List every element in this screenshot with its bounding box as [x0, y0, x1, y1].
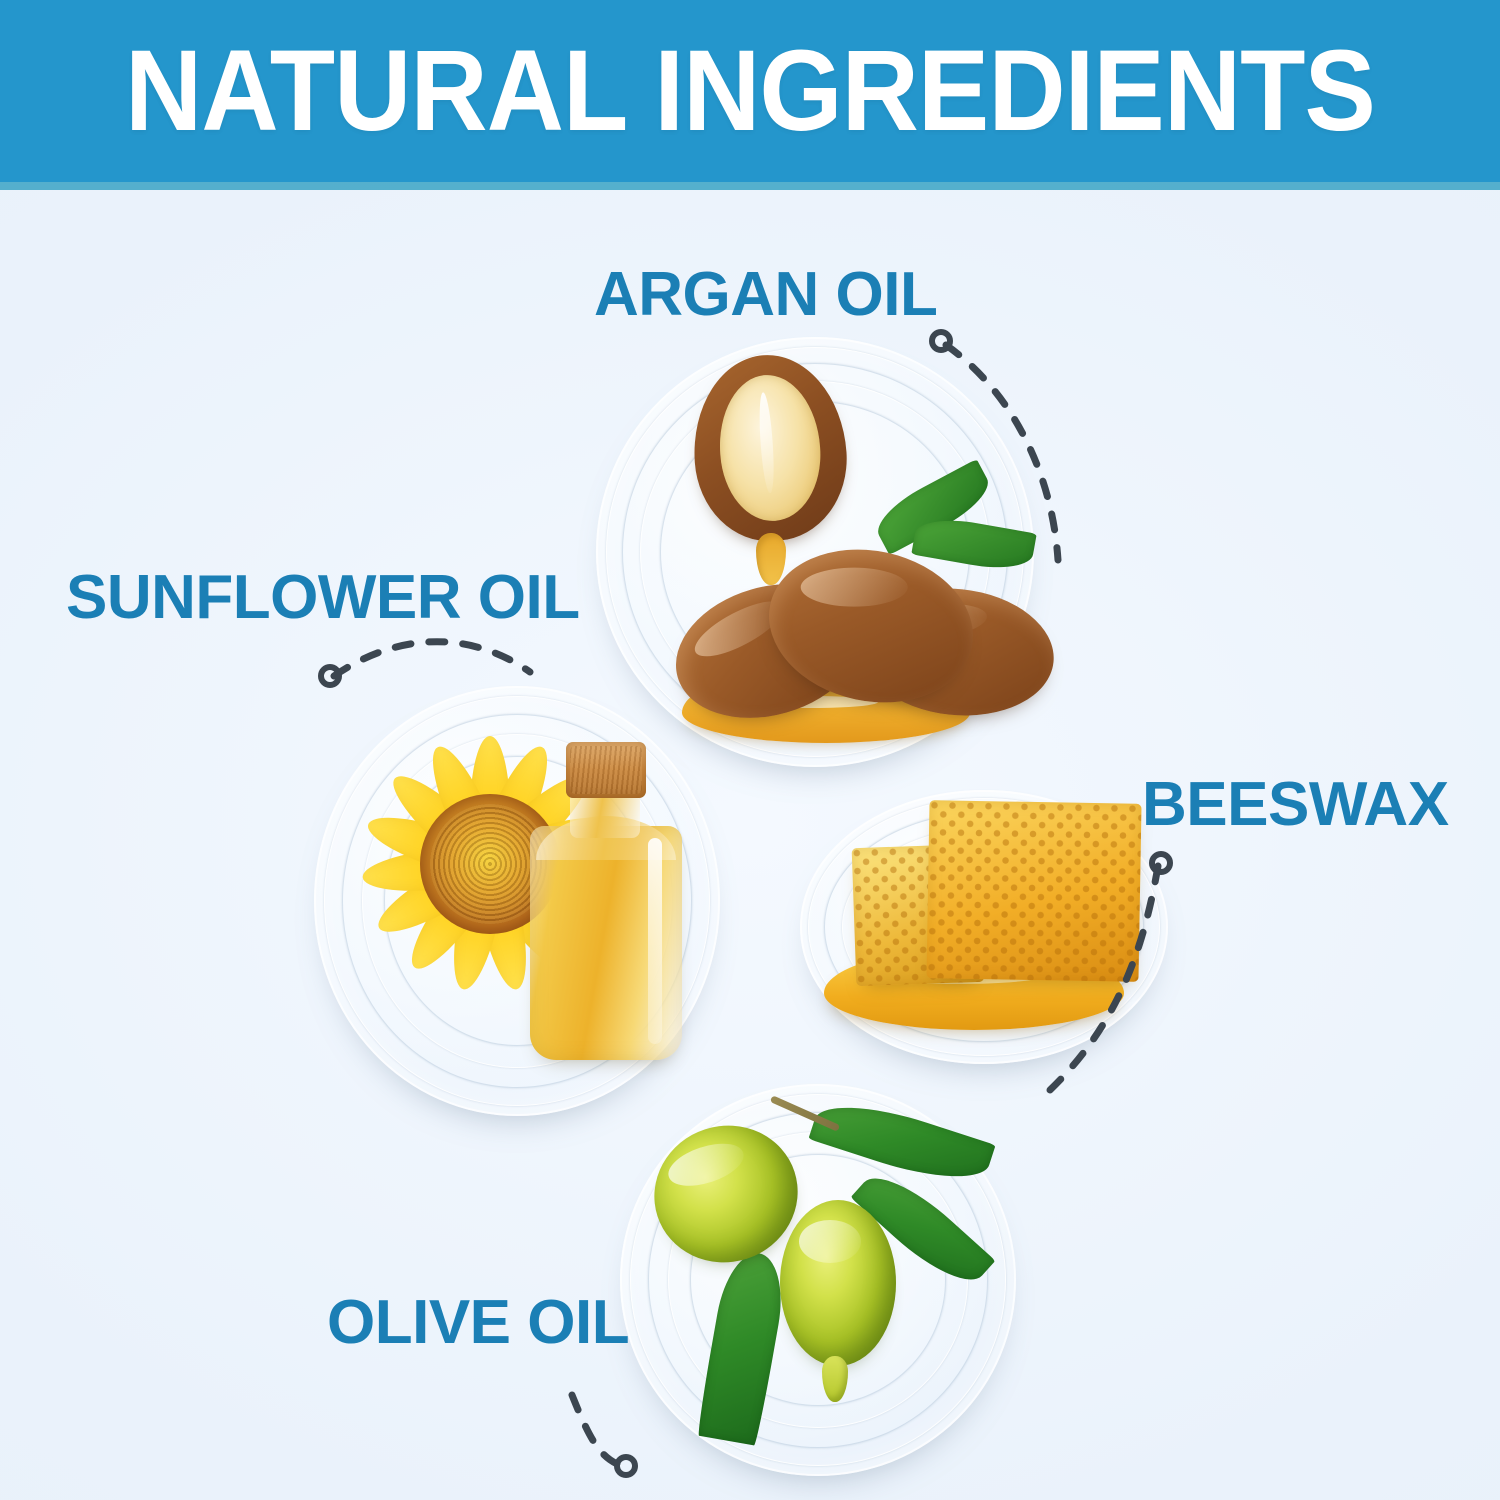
ingredient-label-sunflower-oil: SUNFLOWER OIL: [66, 562, 580, 633]
honeycomb-block: [926, 800, 1141, 982]
argan-oil-dish: [596, 337, 1034, 767]
bottle-highlight: [648, 838, 662, 1044]
ingredient-label-olive-oil: OLIVE OIL: [327, 1287, 629, 1358]
olive-fruit: [780, 1200, 896, 1366]
cork-stopper: [566, 742, 646, 798]
olive-oil-dish: [620, 1084, 1016, 1476]
olive-oil-connector: [572, 1395, 622, 1466]
nut-sheen: [800, 568, 907, 607]
beeswax-connector-dot: [1152, 854, 1170, 872]
oil-bottle: [530, 742, 682, 1060]
ingredient-label-argan-oil: ARGAN OIL: [594, 259, 937, 330]
argan-oil-connector-dot: [932, 332, 950, 350]
page-title: NATURAL INGREDIENTS: [53, 0, 1448, 182]
olive-gloss: [663, 1136, 748, 1194]
sunflower-oil-dish: [314, 686, 720, 1116]
olive-oil-connector-dot: [617, 1457, 635, 1475]
infographic-page: NATURAL INGREDIENTS: [0, 0, 1500, 1500]
sunflower-oil-connector-dot: [321, 667, 339, 685]
sunflower-oil-connector: [334, 642, 530, 676]
header-underline: [0, 182, 1500, 190]
ingredient-label-beeswax: BEESWAX: [1142, 769, 1449, 840]
olive-gloss: [799, 1220, 862, 1263]
beeswax-dish: [800, 790, 1168, 1064]
